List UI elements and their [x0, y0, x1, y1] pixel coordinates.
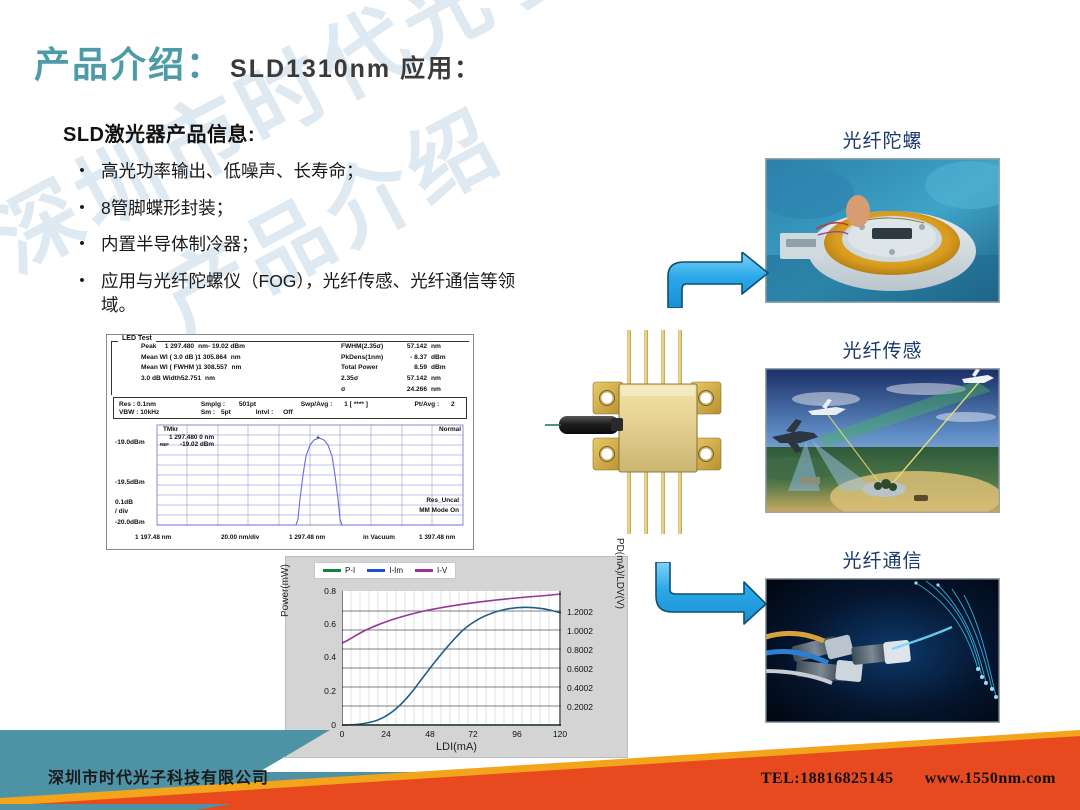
osa-param-label: Swp/Avg : — [301, 401, 333, 408]
osa-measure-unit: dBm — [431, 363, 451, 374]
elbow-arrow-up-right-icon — [660, 252, 770, 308]
osa-param-value: 10kHz — [140, 409, 159, 416]
osa-measure-unit: nm — [198, 342, 208, 353]
arrow-to-communication — [648, 562, 768, 631]
osa-param-value: 1 [ **** ] — [344, 401, 368, 408]
osa-spectrum-panel: LED Test Peak 1 297.480 nm - 19.02 dBm M… — [106, 334, 474, 550]
application-caption: 光纤传感 — [765, 336, 1000, 363]
application-caption: 光纤通信 — [765, 546, 1000, 573]
osa-param-label: Res : — [119, 401, 135, 408]
chart-y-axis-label-left: Power(mW) — [280, 564, 291, 617]
osa-measure-unit: nm — [431, 385, 451, 396]
fiber-optic-gyroscope-photo — [765, 158, 1000, 303]
osa-measure-extra — [215, 374, 245, 385]
osa-measurement-row: σ 24.266 nm — [341, 385, 461, 396]
package-pins-top — [627, 330, 682, 384]
osa-measurement-row: FWHM(2.35σ) 57.142 nm — [341, 342, 461, 353]
osa-marker-ref-label: REF — [160, 442, 169, 447]
legend-swatch-p-i — [323, 569, 341, 572]
footer-website: www.1550nm.com — [925, 770, 1056, 787]
osa-x-start: 1 197.48 nm — [135, 534, 171, 541]
package-body — [619, 384, 697, 472]
osa-measure-value: 1 308.557 — [198, 363, 231, 374]
legend-label-p-i: P-I — [345, 566, 355, 575]
package-pins-bottom — [627, 472, 682, 534]
osa-measure-label: FWHM(2.35σ) — [341, 342, 397, 353]
osa-param-value: 5pt — [221, 409, 231, 416]
osa-mode-label: Normal — [439, 426, 461, 433]
fiber-boot — [559, 416, 619, 434]
page-title-cn: 产品介绍： — [34, 36, 224, 88]
chart-ytick-right: 0.6002 — [567, 664, 601, 674]
osa-param-value: 0.1nm — [137, 401, 156, 408]
osa-measurement-row: Mean Wl ( FWHM ) 1 308.557 nm — [141, 363, 245, 374]
product-info-heading: SLD激光器产品信息: — [63, 118, 543, 147]
osa-measure-unit: nm — [231, 363, 241, 374]
osa-measure-value: 1 297.480 — [165, 342, 198, 353]
osa-measure-label: 2.35σ — [341, 374, 397, 385]
page-title: 产品介绍： SLD1310nm 应用： — [34, 36, 481, 88]
legend-item-i-v: I-V — [415, 566, 447, 575]
osa-parameters-line-2: VBW : 10kHz Sm : 5pt Intvl : Off — [119, 409, 316, 416]
osa-measure-label: Peak — [141, 342, 165, 353]
application-caption: 光纤陀螺 — [765, 126, 1000, 153]
osa-note-res-uncal: Res_Uncal — [426, 497, 459, 504]
legend-item-p-i: P-I — [323, 566, 355, 575]
product-info-block: SLD激光器产品信息: • 高光功率输出、低噪声、长寿命； • 8管脚蝶形封装；… — [63, 118, 543, 317]
osa-measure-label: 3.0 dB Width — [141, 374, 181, 385]
osa-measure-label: Mean Wl ( 3.0 dB ) — [141, 353, 197, 364]
osa-measurement-row: Mean Wl ( 3.0 dB ) 1 305.864 nm — [141, 353, 245, 364]
osa-x-medium: in Vacuum — [363, 534, 395, 541]
chart-legend: P-I I-Im I-V — [314, 562, 456, 579]
list-item-label: 8管脚蝶形封装； — [101, 197, 543, 221]
chart-y-axis-label-right: PD(mA)/LDV(V) — [614, 538, 625, 609]
svg-text:+: + — [316, 435, 319, 441]
osa-note-mm-mode: MM Mode On — [419, 507, 459, 514]
elbow-arrow-down-right-icon — [648, 562, 768, 626]
osa-measure-unit: dBm — [431, 353, 451, 364]
sensing-illustration — [766, 369, 999, 512]
osa-legend-label: LED Test — [118, 335, 156, 342]
gyroscope-illustration — [766, 159, 999, 302]
osa-param-value: 2 — [451, 401, 455, 408]
legend-item-i-im: I-Im — [367, 566, 403, 575]
chart-ytick-right: 1.2002 — [567, 607, 601, 617]
osa-parameters: Res : 0.1nm Smplg : 501pt Swp/Avg : 1 [ … — [113, 397, 467, 419]
osa-marker-title: TMkr — [163, 426, 178, 433]
osa-measure-label: σ — [341, 385, 397, 396]
chart-ytick-right: 1.0002 — [567, 626, 601, 636]
osa-measurement-row: 2.35σ 57.142 nm — [341, 374, 461, 385]
osa-measure-unit: nm — [231, 353, 241, 364]
osa-measure-label: PkDens(1nm) — [341, 353, 397, 364]
osa-measurement-row: 3.0 dB Width 52.751 nm — [141, 374, 245, 385]
osa-x-div: 20.00 nm/div — [221, 534, 259, 541]
osa-param-label: Intvl : — [256, 409, 274, 416]
osa-x-center: 1 297.48 nm — [289, 534, 325, 541]
fiber-optic-sensing-photo — [765, 368, 1000, 513]
bullet-marker-icon: • — [63, 197, 101, 221]
chart-ytick-right: 0.2002 — [567, 702, 601, 712]
osa-measure-value: 8.59 — [397, 363, 431, 374]
list-item-label: 内置半导体制冷器； — [101, 233, 543, 257]
osa-param-label: Sm : — [201, 409, 215, 416]
application-card-communication: 光纤通信 — [765, 546, 1000, 723]
communication-illustration — [766, 579, 999, 722]
osa-y-label: -19.0dBm — [115, 439, 145, 446]
osa-measure-extra: - 19.02 dBm — [208, 342, 245, 353]
chart-ytick-right: 0.8002 — [567, 645, 601, 655]
list-item: • 内置半导体制冷器； — [63, 233, 543, 257]
legend-swatch-i-im — [367, 569, 385, 572]
osa-measure-unit: nm — [431, 374, 451, 385]
osa-marker-power: -19.02 dBm — [180, 441, 214, 448]
osa-measure-value: - 8.37 — [397, 353, 431, 364]
footer-contact: TEL:18816825145 www.1550nm.com — [761, 770, 1056, 788]
chart-ytick-left: 0.2 — [306, 686, 336, 696]
osa-param-label: Pt/Avg : — [415, 401, 440, 408]
osa-measurements-left: Peak 1 297.480 nm - 19.02 dBm Mean Wl ( … — [117, 342, 245, 395]
slide-root: 深圳市时代光子科技有限公司 产品介绍 产品介绍： SLD1310nm 应用： S… — [0, 0, 1080, 810]
osa-measure-label: Mean Wl ( FWHM ) — [141, 363, 198, 374]
list-item-label: 应用与光纤陀螺仪（FOG），光纤传感、光纤通信等领域。 — [101, 270, 543, 317]
legend-label-i-im: I-Im — [389, 566, 403, 575]
osa-measure-extra — [241, 353, 245, 364]
bullet-marker-icon: • — [63, 270, 101, 317]
chart-plot-area — [342, 591, 561, 726]
footer: 深圳市时代光子科技有限公司 TEL:18816825145 www.1550nm… — [0, 720, 1080, 810]
osa-measurement-row: Peak 1 297.480 nm - 19.02 dBm — [141, 342, 245, 353]
osa-param-value: 501pt — [239, 401, 256, 408]
osa-marker-wavelength: 1 297.480 0 nm — [169, 434, 214, 441]
application-card-gyroscope: 光纤陀螺 — [765, 126, 1000, 303]
arrow-to-gyroscope — [660, 252, 770, 313]
page-title-en: SLD1310nm 应用： — [230, 49, 481, 85]
osa-param-value: Off — [283, 409, 293, 416]
osa-measurements: Peak 1 297.480 nm - 19.02 dBm Mean Wl ( … — [117, 342, 469, 395]
osa-y-scale-unit: / div — [115, 508, 128, 515]
list-item: • 应用与光纤陀螺仪（FOG），光纤传感、光纤通信等领域。 — [63, 270, 543, 317]
osa-measure-value: 57.142 — [397, 342, 431, 353]
chart-ytick-left: 0.8 — [306, 586, 336, 596]
list-item: • 高光功率输出、低噪声、长寿命； — [63, 160, 543, 184]
osa-measurements-right: FWHM(2.35σ) 57.142 nm PkDens(1nm) - 8.37… — [341, 342, 461, 395]
list-item-label: 高光功率输出、低噪声、长寿命； — [101, 160, 543, 184]
butterfly-package-svg — [545, 312, 775, 557]
legend-swatch-i-v — [415, 569, 433, 572]
chart-ytick-left: 0.4 — [306, 652, 336, 662]
osa-measure-value: 57.142 — [397, 374, 431, 385]
osa-param-label: Smplg : — [201, 401, 225, 408]
fiber-optic-communication-photo — [765, 578, 1000, 723]
chart-ytick-left: 0.6 — [306, 619, 336, 629]
osa-y-label: -20.0dBm — [115, 519, 145, 526]
legend-label-i-v: I-V — [437, 566, 447, 575]
osa-measure-value: 24.266 — [397, 385, 431, 396]
osa-measure-unit: nm — [431, 342, 451, 353]
osa-measure-unit: nm — [205, 374, 215, 385]
osa-y-label: -19.5dBm — [115, 479, 145, 486]
osa-y-scale-label: 0.1dB — [115, 499, 133, 506]
osa-measure-value: 52.751 — [181, 374, 205, 385]
application-card-sensing: 光纤传感 — [765, 336, 1000, 513]
footer-tel: TEL:18816825145 — [761, 770, 894, 787]
butterfly-package-laser-diode — [545, 312, 775, 557]
osa-measure-extra — [241, 363, 245, 374]
osa-spectrum-plot: + -19.0dBm -19.5dBm 0.1dB / div -20.0dBm… — [113, 423, 467, 543]
osa-param-label: VBW : — [119, 409, 138, 416]
osa-measure-label: Total Power — [341, 363, 397, 374]
list-item: • 8管脚蝶形封装； — [63, 197, 543, 221]
osa-parameters-line-1: Res : 0.1nm Smplg : 501pt Swp/Avg : 1 [ … — [119, 401, 455, 408]
osa-measure-value: 1 305.864 — [197, 353, 230, 364]
bullet-marker-icon: • — [63, 233, 101, 257]
osa-measurement-row: PkDens(1nm) - 8.37 dBm — [341, 353, 461, 364]
osa-measurement-row: Total Power 8.59 dBm — [341, 363, 461, 374]
chart-ytick-right: 0.4002 — [567, 683, 601, 693]
osa-x-stop: 1 397.48 nm — [419, 534, 455, 541]
bullet-marker-icon: • — [63, 160, 101, 184]
footer-company: 深圳市时代光子科技有限公司 — [48, 764, 269, 788]
